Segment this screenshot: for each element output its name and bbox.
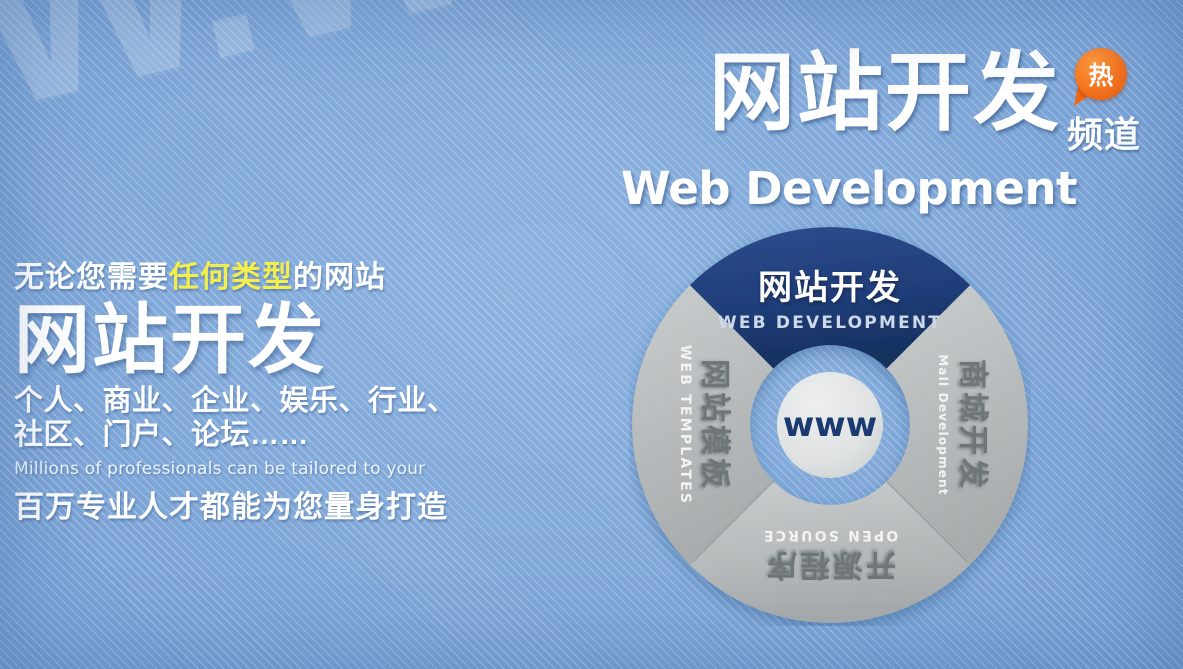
header-badge-column: 热 频道 (1065, 46, 1161, 166)
tagline-post: 的网站 (293, 261, 386, 294)
donut-hub-label: www (783, 405, 877, 445)
donut-diagram: www 网站开发 WEB DEVELOPMENT 网站模板 WEB TEMPLA… (629, 224, 1031, 626)
tagline-highlight: 任何类型 (169, 261, 293, 294)
categories-line-1: 个人、商业、企业、娱乐、行业、 (14, 384, 457, 418)
tagline: 无论您需要任何类型的网站 (14, 252, 457, 296)
categories-line-2: 社区、门户、论坛…… (14, 418, 457, 452)
main-title: 网站开发 (14, 298, 457, 384)
tagline-pre: 无论您需要 (14, 261, 169, 294)
header-title-cn: 网站开发 (709, 46, 1061, 140)
header-title-en: Web Development (621, 162, 1077, 215)
header-title-row: 网站开发 热 频道 (621, 46, 1161, 166)
header-channel-label: 频道 (1067, 106, 1141, 158)
english-subline: Millions of professionals can be tailore… (14, 459, 457, 479)
header-block: 网站开发 热 频道 Web Development (621, 46, 1161, 215)
closing-line: 百万专业人才都能为您量身打造 (14, 482, 457, 526)
donut-svg: www 网站开发 WEB DEVELOPMENT 网站模板 WEB TEMPLA… (629, 224, 1031, 626)
hot-badge-icon: 热 (1075, 48, 1127, 100)
promo-banner: W.W.W 网站开发 热 频道 Web Development 无论您需要任何类… (0, 0, 1183, 669)
left-copy-block: 无论您需要任何类型的网站 网站开发 个人、商业、企业、娱乐、行业、 社区、门户、… (14, 252, 457, 526)
